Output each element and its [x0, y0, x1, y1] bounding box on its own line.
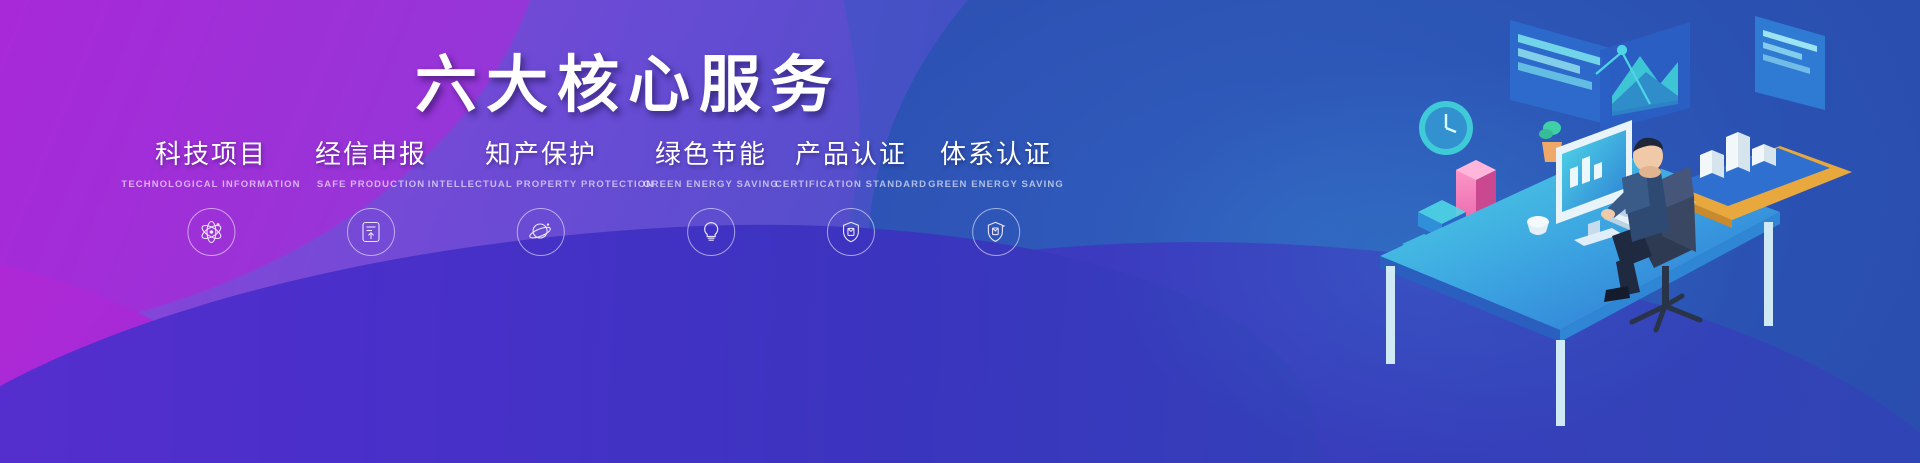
service-label-en: SAFE PRODUCTION	[315, 179, 427, 190]
service-label-cn: 经信申报	[315, 140, 427, 170]
service-label-en: GREEN ENERGY SAVING	[643, 179, 779, 190]
service-item-declaration[interactable]: 经信申报 SAFE PRODUCTION	[315, 140, 427, 256]
coffee-cup	[1527, 216, 1549, 235]
service-label-cn: 知产保护	[428, 140, 654, 170]
service-label-cn: 产品认证	[775, 140, 927, 170]
service-label-cn: 体系认证	[928, 140, 1064, 170]
shield-badge-icon[interactable]	[827, 208, 875, 256]
service-list: 科技项目 TECHNOLOGICAL INFORMATION 经信申报 SAFE…	[0, 140, 1100, 280]
service-label-en: TECHNOLOGICAL INFORMATION	[121, 179, 300, 190]
service-label-cn: 绿色节能	[643, 140, 779, 170]
atom-icon[interactable]	[187, 208, 235, 256]
banner-title: 六大核心服务	[415, 34, 841, 124]
service-item-product-certification[interactable]: 产品认证 CERTIFICATION STANDARD	[775, 140, 927, 256]
service-item-green-energy[interactable]: 绿色节能 GREEN ENERGY SAVING	[643, 140, 779, 256]
service-banner: 六大核心服务 科技项目 TECHNOLOGICAL INFORMATION 经信…	[0, 0, 1920, 463]
wall-clock	[1419, 101, 1473, 155]
shield-check-icon[interactable]	[972, 208, 1020, 256]
service-label-cn: 科技项目	[121, 140, 300, 170]
service-item-ip-protection[interactable]: 知产保护 INTELLECTUAL PROPERTY PROTECTION	[428, 140, 654, 256]
service-label-en: GREEN ENERGY SAVING	[928, 179, 1064, 190]
service-label-en: CERTIFICATION STANDARD	[775, 179, 927, 190]
wall-screen-mountain	[1600, 22, 1690, 132]
isometric-office-workspace	[1360, 0, 1920, 463]
service-item-tech-project[interactable]: 科技项目 TECHNOLOGICAL INFORMATION	[121, 140, 300, 256]
service-label-en: INTELLECTUAL PROPERTY PROTECTION	[428, 179, 654, 190]
wall-screen-document	[1755, 16, 1825, 110]
service-item-system-certification[interactable]: 体系认证 GREEN ENERGY SAVING	[928, 140, 1064, 256]
lightbulb-icon[interactable]	[687, 208, 735, 256]
document-upload-icon[interactable]	[347, 208, 395, 256]
wall-screen-chart	[1510, 20, 1610, 125]
planet-icon[interactable]	[517, 208, 565, 256]
